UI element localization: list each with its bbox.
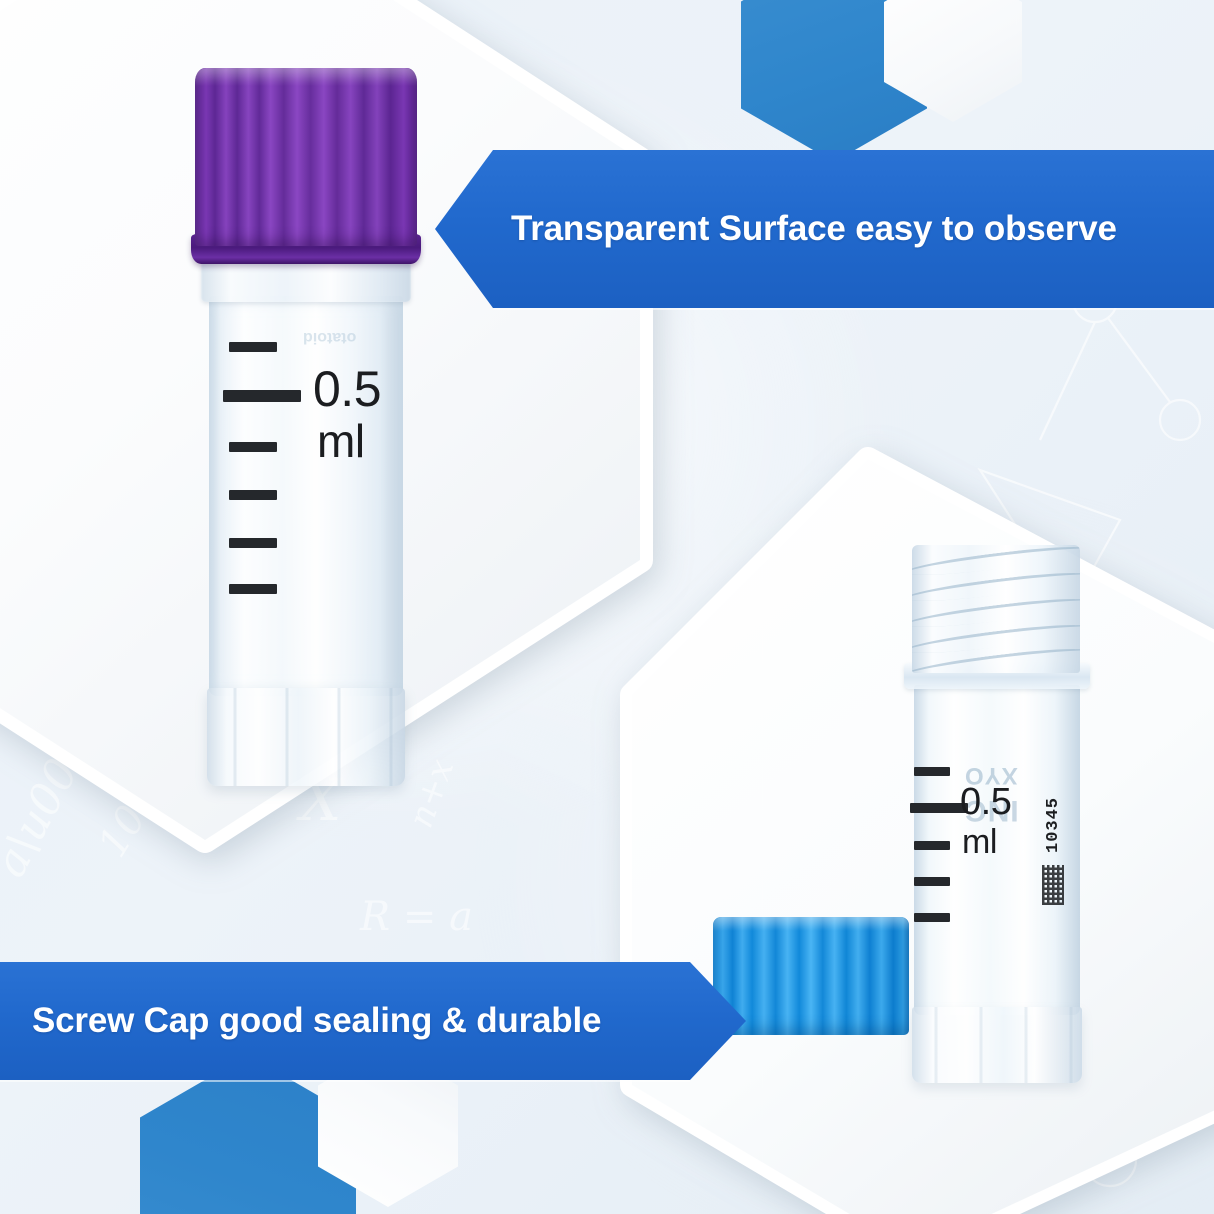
tube-neck-purple	[201, 260, 411, 302]
banner-screw-cap-text: Screw Cap good sealing & durable	[32, 1001, 601, 1041]
banner-transparent-surface: Transparent Surface easy to observe	[435, 150, 1214, 308]
screw-cap-purple	[195, 68, 417, 246]
tube-base-facets-purple	[207, 688, 405, 786]
cryovial-open-threaded: XYO INC 0.5 ml 10345	[898, 545, 1100, 1075]
volume-value-purple: 0.5	[313, 366, 381, 412]
graduation-mark	[914, 767, 950, 776]
banner-transparent-surface-text: Transparent Surface easy to observe	[511, 209, 1117, 249]
volume-unit-purple: ml	[317, 420, 365, 462]
cap-top-highlight-purple	[195, 68, 417, 86]
volume-unit-open: ml	[962, 827, 997, 858]
graduation-mark	[229, 584, 277, 594]
tube-base-facets-open	[912, 1007, 1082, 1083]
banner-top-underline	[493, 308, 1214, 310]
graduation-mark	[229, 490, 277, 500]
banner-bottom-underline	[0, 1080, 690, 1082]
graduation-mark	[914, 913, 950, 922]
graduation-mark	[229, 538, 277, 548]
graduation-mark	[229, 342, 277, 352]
graduation-mark	[914, 841, 950, 850]
product-infographic-canvas: a\u00b2+b\u00b2 10k\u00b2 X n+x R = a \u…	[0, 0, 1214, 1214]
cryovial-purple-cap: MEVIAL otatoid 0.5 ml	[181, 68, 429, 732]
svg-text:R = a: R = a	[359, 894, 473, 940]
banner-screw-cap: Screw Cap good sealing & durable	[0, 962, 746, 1080]
graduation-mark	[914, 877, 950, 886]
tube-embossed-secondary: otatoid	[303, 328, 356, 346]
graduation-mark	[229, 442, 277, 452]
volume-value-open: 0.5	[960, 785, 1011, 820]
tube-printed-code: 10345	[1044, 761, 1063, 853]
graduation-mark-major	[223, 390, 301, 402]
tube-thread-lines	[912, 545, 1080, 673]
tube-datamatrix-code	[1042, 865, 1064, 905]
cap-top-highlight-blue	[713, 917, 909, 931]
